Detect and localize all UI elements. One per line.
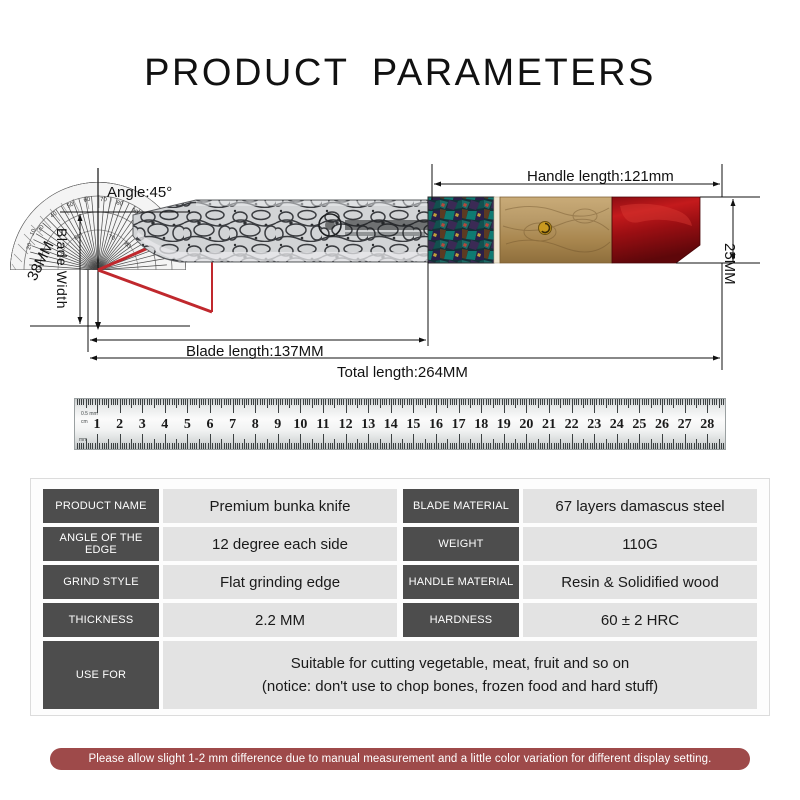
ruler-tick <box>574 399 575 405</box>
ruler-tick <box>219 443 220 449</box>
ruler-tick <box>99 443 100 449</box>
ruler-tick <box>714 443 715 449</box>
ruler-tick <box>533 443 534 449</box>
ruler-tick <box>422 443 423 449</box>
ruler-tick <box>108 439 109 449</box>
ruler-tick <box>262 443 263 449</box>
spec-key: GRIND STYLE <box>43 565 159 599</box>
ruler-tick <box>102 399 103 405</box>
ruler-tick <box>676 399 677 405</box>
ruler-tick <box>366 443 367 449</box>
ruler-tick <box>459 399 460 413</box>
ruler: 0.5 mm cm mm 123456789101112131415161718… <box>74 398 726 450</box>
ruler-tick <box>323 399 324 413</box>
ruler-tick <box>196 443 197 449</box>
ruler-tick <box>156 443 157 449</box>
ruler-tick <box>490 399 491 405</box>
ruler-tick <box>506 443 507 449</box>
angle-label: Angle:45° <box>107 184 172 201</box>
ruler-tick <box>472 443 473 449</box>
ruler-tick <box>350 443 351 449</box>
ruler-number: 4 <box>161 417 168 433</box>
ruler-tick <box>233 399 234 413</box>
ruler-tick <box>205 399 206 405</box>
ruler-number: 18 <box>474 417 488 433</box>
ruler-tick <box>648 443 649 449</box>
ruler-tick <box>334 439 335 449</box>
ruler-tick <box>163 399 164 405</box>
ruler-tick <box>560 439 561 449</box>
ruler-tick <box>135 399 136 405</box>
ruler-tick <box>90 443 91 449</box>
ruler-tick <box>673 439 674 449</box>
ruler-tick <box>422 399 423 405</box>
ruler-tick <box>425 399 426 408</box>
ruler-tick <box>228 399 229 405</box>
ruler-tick <box>120 434 121 449</box>
ruler-tick <box>470 439 471 449</box>
ruler-tick <box>581 443 582 449</box>
ruler-tick <box>226 399 227 405</box>
ruler-tick <box>253 399 254 405</box>
ruler-tick <box>201 399 202 405</box>
ruler-tick <box>407 399 408 405</box>
ruler-tick <box>404 443 405 449</box>
ruler-tick <box>499 399 500 405</box>
ruler-tick <box>436 434 437 449</box>
ruler-tick <box>163 443 164 449</box>
ruler-tick <box>581 399 582 405</box>
ruler-tick <box>431 443 432 449</box>
ruler-tick <box>316 399 317 405</box>
ruler-tick <box>255 399 256 413</box>
ruler-tick <box>282 443 283 449</box>
ruler-number: 24 <box>610 417 624 433</box>
ruler-tick <box>280 399 281 405</box>
ruler-tick <box>178 443 179 449</box>
ruler-tick <box>79 399 80 405</box>
ruler-tick <box>309 399 310 405</box>
spec-key: WEIGHT <box>403 527 519 561</box>
ruler-tick <box>217 443 218 449</box>
ruler-tick <box>117 443 118 449</box>
ruler-tick <box>382 399 383 405</box>
spec-key-use-for: USE FOR <box>43 641 159 709</box>
ruler-tick <box>90 399 91 405</box>
ruler-tick <box>337 443 338 449</box>
ruler-tick <box>626 399 627 405</box>
ruler-tick <box>395 399 396 405</box>
ruler-tick <box>278 399 279 413</box>
ruler-tick <box>210 434 211 449</box>
ruler-tick <box>601 399 602 405</box>
ruler-tick <box>680 399 681 405</box>
ruler-tick <box>563 443 564 449</box>
ruler-tick <box>493 439 494 449</box>
ruler-tick <box>398 443 399 449</box>
ruler-tick <box>224 399 225 405</box>
ruler-tick <box>569 399 570 405</box>
ruler-tick <box>705 443 706 449</box>
ruler-tick <box>655 399 656 405</box>
ruler-tick <box>678 443 679 449</box>
ruler-tick <box>373 443 374 449</box>
ruler-number: 26 <box>655 417 669 433</box>
ruler-tick <box>271 399 272 405</box>
ruler-tick <box>499 443 500 449</box>
spec-value-use-for: Suitable for cutting vegetable, meat, fr… <box>163 641 757 709</box>
ruler-tick <box>271 443 272 449</box>
ruler-tick <box>472 399 473 405</box>
ruler-tick <box>445 399 446 405</box>
ruler-tick <box>226 443 227 449</box>
ruler-tick <box>413 399 414 413</box>
ruler-tick <box>377 443 378 449</box>
spec-key: BLADE MATERIAL <box>403 489 519 523</box>
ruler-tick <box>608 443 609 449</box>
ruler-tick <box>454 443 455 449</box>
ruler-tick <box>612 399 613 405</box>
ruler-tick <box>300 434 301 449</box>
ruler-tick <box>194 443 195 449</box>
ruler-tick <box>662 399 663 413</box>
ruler-tick <box>246 399 247 405</box>
ruler-tick <box>712 443 713 449</box>
ruler-tick <box>133 399 134 405</box>
ruler-tick <box>416 443 417 449</box>
ruler-tick <box>208 443 209 449</box>
ruler-tick <box>77 399 78 405</box>
ruler-number: 5 <box>184 417 191 433</box>
knife-diagram: 30 40 50 60 70 80 90 100 120 140 20 10 6… <box>0 140 800 390</box>
ruler-tick <box>325 399 326 405</box>
ruler-tick <box>560 399 561 408</box>
table-row-use-for: USE FOR Suitable for cutting vegetable, … <box>43 641 757 709</box>
ruler-tick <box>190 399 191 405</box>
ruler-tick <box>102 443 103 449</box>
ruler-tick <box>328 399 329 405</box>
ruler-tick <box>504 399 505 413</box>
ruler-tick <box>330 399 331 405</box>
ruler-tick <box>260 399 261 405</box>
ruler-tick <box>576 443 577 449</box>
ruler-tick <box>330 443 331 449</box>
ruler-tick <box>630 443 631 449</box>
ruler-tick <box>429 443 430 449</box>
ruler-tick <box>298 399 299 405</box>
ruler-tick <box>307 399 308 405</box>
ruler-tick <box>296 443 297 449</box>
ruler-tick <box>502 399 503 405</box>
ruler-number: 15 <box>406 417 420 433</box>
ruler-tick <box>285 443 286 449</box>
ruler-tick <box>343 443 344 449</box>
ruler-tick <box>172 399 173 405</box>
ruler-tick <box>551 443 552 449</box>
ruler-tick <box>221 399 222 408</box>
ruler-tick <box>657 443 658 449</box>
ruler-tick <box>237 443 238 449</box>
ruler-tick <box>386 399 387 405</box>
ruler-tick <box>83 399 84 405</box>
ruler-unit-cm: cm <box>81 419 88 425</box>
ruler-tick <box>115 443 116 449</box>
ruler-tick <box>81 443 82 449</box>
ruler-tick <box>703 399 704 405</box>
ruler-tick <box>276 399 277 405</box>
ruler-tick <box>375 399 376 405</box>
ruler-tick <box>318 443 319 449</box>
ruler-tick <box>587 443 588 449</box>
ruler-tick <box>524 443 525 449</box>
ruler-tick <box>384 399 385 405</box>
ruler-tick <box>95 399 96 405</box>
ruler-number: 19 <box>497 417 511 433</box>
ruler-tick <box>696 439 697 449</box>
ruler-tick <box>540 443 541 449</box>
ruler-tick <box>420 399 421 405</box>
spec-value: Resin & Solidified wood <box>523 565 757 599</box>
ruler-tick <box>257 443 258 449</box>
ruler-tick <box>244 439 245 449</box>
ruler-tick <box>660 399 661 405</box>
ruler-tick <box>253 443 254 449</box>
ruler-tick <box>230 443 231 449</box>
ruler-tick <box>370 443 371 449</box>
ruler-tick <box>542 443 543 449</box>
ruler-tick <box>158 399 159 405</box>
ruler-tick <box>698 399 699 405</box>
ruler-tick <box>723 443 724 449</box>
ruler-tick <box>384 443 385 449</box>
ruler-tick <box>682 399 683 405</box>
ruler-tick <box>712 399 713 405</box>
ruler-tick <box>441 399 442 405</box>
ruler-tick <box>237 399 238 405</box>
ruler-tick <box>328 443 329 449</box>
ruler-number: 17 <box>452 417 466 433</box>
ruler-tick <box>280 443 281 449</box>
ruler-tick <box>212 399 213 405</box>
ruler-tick <box>111 443 112 449</box>
ruler-tick <box>635 443 636 449</box>
ruler-tick <box>567 443 568 449</box>
ruler-tick <box>314 399 315 405</box>
ruler-tick <box>481 434 482 449</box>
ruler-tick <box>651 439 652 449</box>
ruler-tick <box>615 443 616 449</box>
ruler-tick <box>402 399 403 408</box>
ruler-tick <box>409 399 410 405</box>
ruler-tick <box>488 443 489 449</box>
ruler-tick <box>307 443 308 449</box>
ruler-tick <box>418 399 419 405</box>
ruler-tick <box>617 399 618 413</box>
ruler-tick <box>617 434 618 449</box>
ruler-tick <box>404 399 405 405</box>
ruler-tick <box>285 399 286 405</box>
ruler-tick <box>377 399 378 405</box>
ruler-tick <box>239 399 240 405</box>
ruler-tick <box>549 434 550 449</box>
ruler-tick <box>203 399 204 405</box>
ruler-tick <box>203 443 204 449</box>
ruler-tick <box>694 399 695 405</box>
ruler-tick <box>181 399 182 405</box>
ruler-tick <box>689 399 690 405</box>
ruler-tick <box>721 443 722 449</box>
ruler-tick <box>427 443 428 449</box>
ruler-tick <box>341 399 342 405</box>
ruler-tick <box>599 399 600 405</box>
ruler-tick <box>135 443 136 449</box>
ruler-tick <box>339 399 340 405</box>
ruler-tick <box>138 399 139 405</box>
ruler-tick <box>398 399 399 405</box>
ruler-number: 22 <box>565 417 579 433</box>
ruler-tick <box>92 399 93 405</box>
spec-value: 67 layers damascus steel <box>523 489 757 523</box>
ruler-tick <box>461 399 462 405</box>
ruler-tick <box>192 443 193 449</box>
ruler-tick <box>459 434 460 449</box>
ruler-tick <box>662 434 663 449</box>
ruler-tick <box>325 443 326 449</box>
ruler-tick <box>680 443 681 449</box>
ruler-tick <box>698 443 699 449</box>
ruler-tick <box>86 439 87 449</box>
ruler-tick <box>357 399 358 408</box>
ruler-tick <box>289 439 290 449</box>
ruler-tick <box>522 399 523 405</box>
ruler-tick <box>452 443 453 449</box>
infographic-canvas: PRODUCT PARAMETERS <box>0 0 800 800</box>
ruler-tick <box>312 399 313 408</box>
ruler-tick <box>92 443 93 449</box>
ruler-tick <box>81 399 82 405</box>
ruler-tick <box>517 443 518 449</box>
ruler-tick <box>619 399 620 405</box>
ruler-tick <box>300 399 301 413</box>
ruler-tick <box>129 443 130 449</box>
ruler-tick <box>167 399 168 405</box>
ruler-tick <box>149 443 150 449</box>
ruler-tick <box>653 399 654 405</box>
ruler-tick <box>612 443 613 449</box>
ruler-tick <box>239 443 240 449</box>
ruler-tick <box>630 399 631 405</box>
ruler-tick <box>703 443 704 449</box>
ruler-tick <box>642 399 643 405</box>
ruler-number: 20 <box>519 417 533 433</box>
ruler-tick <box>678 399 679 405</box>
ruler-tick <box>615 399 616 405</box>
ruler-tick <box>547 399 548 405</box>
ruler-tick <box>291 399 292 405</box>
ruler-tick <box>368 399 369 413</box>
ruler-tick <box>610 399 611 405</box>
ruler-tick <box>402 439 403 449</box>
ruler-tick <box>639 434 640 449</box>
ruler-tick <box>88 443 89 449</box>
ruler-tick <box>165 434 166 449</box>
ruler-tick <box>429 399 430 405</box>
ruler-tick <box>140 443 141 449</box>
ruler-tick <box>438 443 439 449</box>
ruler-number: 3 <box>139 417 146 433</box>
ruler-tick <box>113 443 114 449</box>
ruler-tick <box>572 434 573 449</box>
ruler-tick <box>176 439 177 449</box>
total-length-label: Total length:264MM <box>337 364 468 381</box>
ruler-tick <box>147 399 148 405</box>
spec-value: 110G <box>523 527 757 561</box>
spec-key: THICKNESS <box>43 603 159 637</box>
ruler-tick <box>158 443 159 449</box>
ruler-tick <box>151 443 152 449</box>
ruler-tick <box>535 399 536 405</box>
ruler-tick <box>685 434 686 449</box>
ruler-number: 27 <box>678 417 692 433</box>
ruler-tick <box>215 443 216 449</box>
ruler-tick <box>312 439 313 449</box>
ruler-tick <box>212 443 213 449</box>
ruler-tick <box>481 399 482 413</box>
ruler-tick <box>578 443 579 449</box>
ruler-tick <box>169 443 170 449</box>
ruler-tick <box>210 399 211 413</box>
ruler-tick <box>445 443 446 449</box>
ruler-tick <box>511 443 512 449</box>
ruler-tick <box>106 399 107 405</box>
ruler-tick <box>416 399 417 405</box>
ruler-tick <box>506 399 507 405</box>
ruler-tick <box>468 443 469 449</box>
ruler-tick <box>364 443 365 449</box>
ruler-tick <box>497 443 498 449</box>
ruler-tick <box>264 443 265 449</box>
ruler-tick <box>124 399 125 405</box>
ruler-tick <box>569 443 570 449</box>
ruler-tick <box>187 434 188 449</box>
ruler-tick <box>565 399 566 405</box>
ruler-tick <box>131 439 132 449</box>
ruler-tick <box>463 399 464 405</box>
ruler-tick <box>515 439 516 449</box>
ruler-tick <box>705 399 706 405</box>
ruler-tick <box>709 443 710 449</box>
ruler-tick <box>687 443 688 449</box>
page-title: PRODUCT PARAMETERS <box>0 52 800 95</box>
ruler-number: 13 <box>361 417 375 433</box>
ruler-tick <box>418 443 419 449</box>
ruler-tick <box>594 399 595 413</box>
ruler-tick <box>664 399 665 405</box>
ruler-tick <box>375 443 376 449</box>
ruler-tick <box>83 443 84 449</box>
spec-value: 12 degree each side <box>163 527 397 561</box>
ruler-tick <box>230 399 231 405</box>
ruler-tick <box>126 443 127 449</box>
ruler-tick <box>120 399 121 413</box>
ruler-tick <box>343 399 344 405</box>
ruler-tick <box>660 443 661 449</box>
ruler-tick <box>556 399 557 405</box>
ruler-tick <box>267 439 268 449</box>
ruler-tick <box>262 399 263 405</box>
ruler-tick <box>558 399 559 405</box>
ruler-tick <box>522 443 523 449</box>
